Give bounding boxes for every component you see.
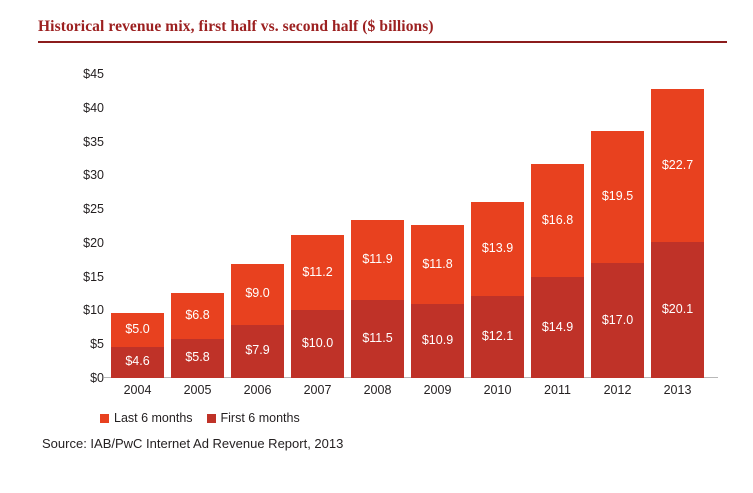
x-axis-tick-label: 2010 [471,383,524,397]
x-axis-tick-label: 2012 [591,383,644,397]
bar-column[interactable]: $11.9$11.5 [351,220,404,378]
y-axis-tick-label: $5 [90,338,104,350]
bar-segment-last-6-months[interactable]: $22.7 [651,89,704,242]
bar-segment-last-6-months[interactable]: $5.0 [111,313,164,347]
x-axis-tick-label: 2011 [531,383,584,397]
bar-segment-first-6-months[interactable]: $7.9 [231,325,284,378]
bar-value-label: $11.9 [351,252,404,266]
bar-value-label: $19.5 [591,189,644,203]
bar-value-label: $22.7 [651,158,704,172]
bar-column[interactable]: $5.0$4.6 [111,313,164,378]
bar-segment-last-6-months[interactable]: $11.8 [411,225,464,305]
bar-value-label: $4.6 [111,354,164,368]
y-axis-tick-label: $35 [83,136,104,148]
legend-item-label: Last 6 months [114,411,193,425]
bar-segment-first-6-months[interactable]: $17.0 [591,263,644,378]
bar-segment-first-6-months[interactable]: $10.0 [291,310,344,378]
x-axis-tick-label: 2005 [171,383,224,397]
x-axis-tick-label: 2013 [651,383,704,397]
y-axis-tick-label: $40 [83,102,104,114]
bar-column[interactable]: $9.0$7.9 [231,264,284,378]
bar-value-label: $14.9 [531,320,584,334]
bar-value-label: $16.8 [531,213,584,227]
bar-value-label: $11.8 [411,257,464,271]
bar-segment-first-6-months[interactable]: $14.9 [531,277,584,378]
y-axis-tick-label: $15 [83,271,104,283]
bar-segment-first-6-months[interactable]: $5.8 [171,339,224,378]
bar-segment-first-6-months[interactable]: $10.9 [411,304,464,378]
bar-segment-first-6-months[interactable]: $4.6 [111,347,164,378]
bar-column[interactable]: $11.2$10.0 [291,235,344,378]
y-axis-tick-label: $0 [90,372,104,384]
legend-item-last-6-months[interactable]: Last 6 months [100,411,193,425]
bar-value-label: $10.0 [291,336,344,350]
bar-value-label: $11.5 [351,331,404,345]
source-note: Source: IAB/PwC Internet Ad Revenue Repo… [42,436,343,451]
y-axis-tick-label: $30 [83,169,104,181]
bar-value-label: $5.0 [111,322,164,336]
legend-swatch-icon [100,414,109,423]
bar-column[interactable]: $11.8$10.9 [411,225,464,378]
bar-segment-last-6-months[interactable]: $11.9 [351,220,404,300]
bar-value-label: $11.2 [291,265,344,279]
bar-segment-first-6-months[interactable]: $20.1 [651,242,704,378]
legend-item-first-6-months[interactable]: First 6 months [207,411,300,425]
bar-segment-first-6-months[interactable]: $12.1 [471,296,524,378]
y-axis-tick-label: $10 [83,304,104,316]
x-axis-tick-label: 2004 [111,383,164,397]
x-axis-tick-label: 2008 [351,383,404,397]
bar-segment-last-6-months[interactable]: $11.2 [291,235,344,311]
bar-segment-last-6-months[interactable]: $19.5 [591,131,644,263]
x-axis-tick-label: 2007 [291,383,344,397]
bar-segment-last-6-months[interactable]: $9.0 [231,264,284,325]
bar-column[interactable]: $13.9$12.1 [471,202,524,378]
bar-column[interactable]: $22.7$20.1 [651,89,704,378]
bar-value-label: $9.0 [231,286,284,300]
chart-legend: Last 6 monthsFirst 6 months [100,411,300,425]
bar-value-label: $12.1 [471,329,524,343]
bar-value-label: $6.8 [171,308,224,322]
bar-segment-last-6-months[interactable]: $6.8 [171,293,224,339]
legend-item-label: First 6 months [221,411,300,425]
x-axis: 2004200520062007200820092010201120122013 [111,383,711,401]
y-axis-tick-label: $25 [83,203,104,215]
y-axis-tick-label: $45 [83,68,104,80]
bar-value-label: $10.9 [411,333,464,347]
bar-value-label: $7.9 [231,343,284,357]
bar-value-label: $13.9 [471,241,524,255]
bar-segment-last-6-months[interactable]: $16.8 [531,164,584,277]
bar-segment-first-6-months[interactable]: $11.5 [351,300,404,378]
bar-segment-last-6-months[interactable]: $13.9 [471,202,524,296]
bar-value-label: $5.8 [171,350,224,364]
bar-value-label: $17.0 [591,313,644,327]
y-axis-tick-label: $20 [83,237,104,249]
bar-value-label: $20.1 [651,302,704,316]
x-axis-tick-label: 2009 [411,383,464,397]
bar-column[interactable]: $16.8$14.9 [531,164,584,378]
x-axis-tick-label: 2006 [231,383,284,397]
legend-swatch-icon [207,414,216,423]
bar-column[interactable]: $19.5$17.0 [591,131,644,378]
bar-column[interactable]: $6.8$5.8 [171,293,224,378]
y-axis: $0$5$10$15$20$25$30$35$40$45 [60,74,104,378]
bars-container: $5.0$4.6$6.8$5.8$9.0$7.9$11.2$10.0$11.9$… [111,74,711,378]
